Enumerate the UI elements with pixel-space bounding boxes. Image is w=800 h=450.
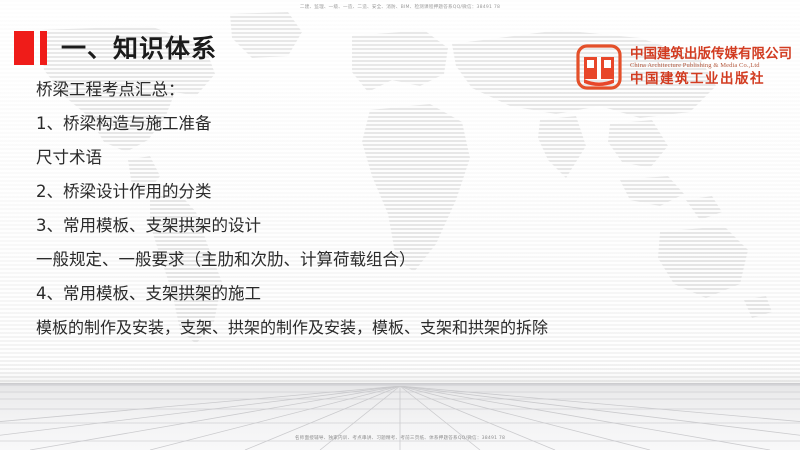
floor-horizon-edge xyxy=(0,383,800,386)
content-line-8: 模板的制作及安装，支架、拱架的制作及安装，模板、支架和拱架的拆除 xyxy=(36,320,776,336)
bottom-watermark-text: 名师面授辅导、独家内训、考点串讲、习题精考、考前三页纸、体系押题答系QQ/微信：… xyxy=(0,435,800,441)
content-line-3: 尺寸术语 xyxy=(36,150,776,167)
page-title: 一、知识体系 xyxy=(61,36,217,61)
slide-header: 一、知识体系 中国建筑出版传媒有限公司 China Architecture P… xyxy=(0,20,800,76)
red-block-wide-icon xyxy=(14,31,34,65)
slide-content: 桥梁工程考点汇总： 1、桥梁构造与施工准备 尺寸术语 2、桥梁设计作用的分类 3… xyxy=(36,82,776,336)
logo-company-cn: 中国建筑出版传媒有限公司 xyxy=(630,47,792,63)
title-group: 一、知识体系 xyxy=(14,24,217,72)
content-line-6: 一般规定、一般要求（主肋和次肋、计算荷载组合） xyxy=(36,252,776,269)
content-line-7: 4、常用模板、支架拱架的施工 xyxy=(36,286,776,303)
content-line-1: 桥梁工程考点汇总： xyxy=(36,82,776,99)
red-block-narrow-icon xyxy=(40,31,47,65)
presentation-slide: 二建、监理、一级、一造、二造、安全、消防、BIM、检测课程押题答系QQ/微信：3… xyxy=(0,0,800,450)
content-line-2: 1、桥梁构造与施工准备 xyxy=(36,116,776,133)
logo-company-en: China Architecture Publishing & Media Co… xyxy=(630,62,792,70)
content-line-4: 2、桥梁设计作用的分类 xyxy=(36,184,776,201)
top-watermark-text: 二建、监理、一级、一造、二造、安全、消防、BIM、检测课程押题答系QQ/微信：3… xyxy=(0,4,800,10)
content-line-5: 3、常用模板、支架拱架的设计 xyxy=(36,218,776,235)
